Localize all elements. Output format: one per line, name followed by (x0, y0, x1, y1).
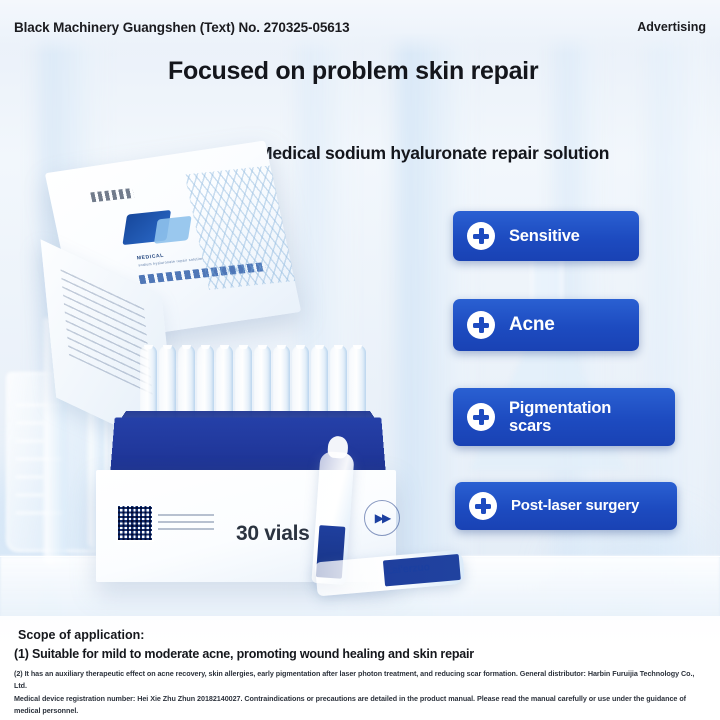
benefit-badge-label: Sensitive (509, 227, 580, 245)
benefit-badge-label: Post-laser surgery (511, 498, 639, 515)
medical-logo-icon (121, 205, 204, 254)
page-subtitle: Medical sodium hyaluronate repair soluti… (258, 143, 708, 164)
benefit-badge-label: Acne (509, 314, 555, 335)
benefit-badge-post-laser-surgery[interactable]: Post-laser surgery (455, 482, 677, 530)
medical-cross-icon (469, 492, 497, 520)
footer-panel: Scope of application: (1) Suitable for m… (0, 616, 720, 720)
fast-forward-icon: ▶▶ (364, 500, 400, 536)
qr-caption-text (158, 512, 214, 530)
benefit-badge-acne[interactable]: Acne (453, 299, 639, 351)
qr-code (116, 504, 154, 542)
scope-title: Scope of application: (18, 628, 706, 642)
benefit-badge-sensitive[interactable]: Sensitive (453, 211, 639, 261)
advertising-label: Advertising (637, 20, 706, 34)
benefit-badge-label: Pigmentation scars (509, 399, 611, 436)
medical-cross-icon (467, 311, 495, 339)
scope-item-3: Medical device registration number: Hei … (14, 693, 706, 718)
medical-cross-icon (467, 222, 495, 250)
benefit-badge-pigmentation-scars[interactable]: Pigmentation scars (453, 388, 675, 446)
vial-count-label: 30 vials (236, 522, 310, 546)
page-title: Focused on problem skin repair (168, 56, 568, 87)
scope-item-2: (2) It has an auxiliary therapeutic effe… (14, 668, 706, 693)
advertisement-canvas: Black Machinery Guangshen (Text) No. 270… (0, 0, 720, 720)
header-title: Black Machinery Guangshen (Text) No. 270… (14, 20, 350, 35)
header-bar: Black Machinery Guangshen (Text) No. 270… (0, 0, 720, 54)
ampoule-cap (327, 436, 348, 459)
scope-item-1: (1) Suitable for mild to moderate acne, … (14, 647, 706, 661)
lid-brand-mark (90, 188, 134, 202)
medical-cross-icon (467, 403, 495, 431)
